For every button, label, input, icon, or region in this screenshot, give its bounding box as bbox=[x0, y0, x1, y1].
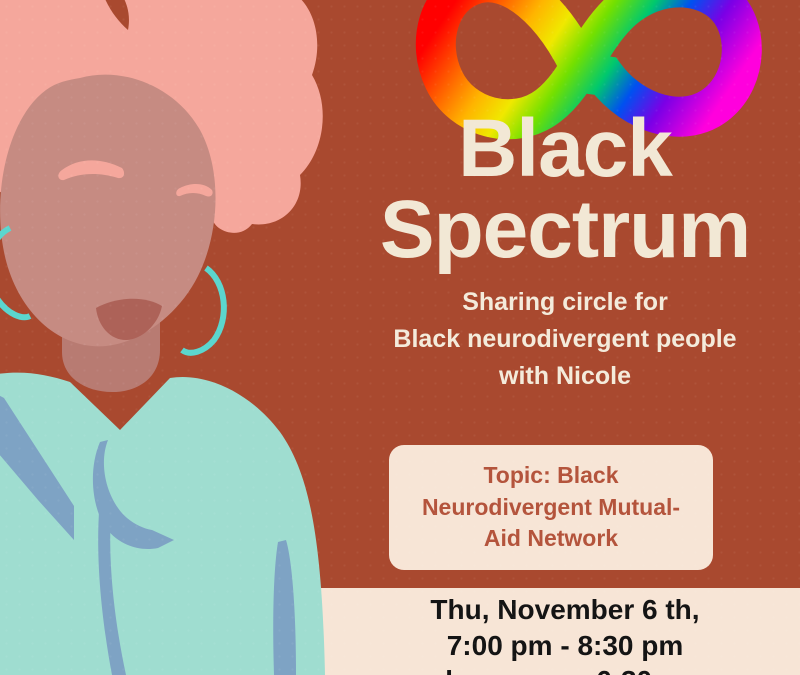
subtitle-line-1: Sharing circle for bbox=[462, 288, 668, 316]
topic-line-2: Neurodivergent Mutual- bbox=[422, 494, 680, 520]
topic-text: Topic: Black Neurodivergent Mutual- Aid … bbox=[406, 460, 696, 555]
subtitle-line-3: with Nicole bbox=[499, 362, 631, 390]
poster-content: Black Spectrum Sharing circle for Black … bbox=[330, 0, 800, 675]
event-datetime: Thu, November 6 th, 7:00 pm - 8:30 pm do… bbox=[330, 592, 800, 675]
page-title: Black Spectrum bbox=[330, 0, 800, 270]
topic-card: Topic: Black Neurodivergent Mutual- Aid … bbox=[389, 445, 713, 570]
topic-line-1: Topic: Black bbox=[483, 462, 618, 488]
title-line-1: Black bbox=[458, 103, 672, 194]
subtitle-line-2: Black neurodivergent people bbox=[393, 325, 736, 353]
event-time: 7:00 pm - 8:30 pm bbox=[330, 628, 800, 664]
topic-line-3: Aid Network bbox=[484, 525, 618, 551]
doors-open-note: doors open 6:30pm bbox=[330, 663, 800, 675]
poster-subtitle: Sharing circle for Black neurodivergent … bbox=[330, 284, 800, 395]
event-date: Thu, November 6 th, bbox=[330, 592, 800, 628]
title-line-2: Spectrum bbox=[330, 189, 800, 270]
person-illustration bbox=[0, 0, 352, 675]
event-poster: Black Spectrum Sharing circle for Black … bbox=[0, 0, 800, 675]
